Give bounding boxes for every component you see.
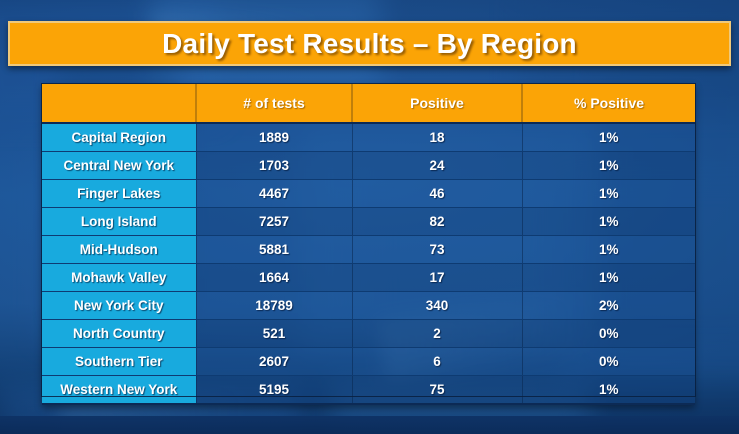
background-lower-band [0,416,739,434]
cell-pct-positive: 1% [522,264,695,292]
table-row: Central New York 1703 24 1% [42,152,695,180]
title-banner: Daily Test Results – By Region [8,21,731,66]
cell-region: Mid-Hudson [42,236,196,264]
table-row: New York City 18789 340 2% [42,292,695,320]
cell-tests: 1703 [196,152,352,180]
cell-positive: 82 [352,208,522,236]
table-row: Capital Region 1889 18 1% [42,123,695,152]
cell-tests: 18789 [196,292,352,320]
cell-positive: 6 [352,348,522,376]
column-header-region [42,84,196,123]
cell-positive: 2 [352,320,522,348]
cell-pct-positive: 1% [522,376,695,405]
cell-region: Southern Tier [42,348,196,376]
cell-region: Finger Lakes [42,180,196,208]
table-body: Capital Region 1889 18 1% Central New Yo… [42,123,695,404]
cell-positive: 73 [352,236,522,264]
cell-region: Capital Region [42,123,196,152]
cell-tests: 4467 [196,180,352,208]
cell-tests: 521 [196,320,352,348]
cell-tests: 5881 [196,236,352,264]
column-header-pct-positive: % Positive [522,84,695,123]
cell-region: New York City [42,292,196,320]
table-row: Mid-Hudson 5881 73 1% [42,236,695,264]
cell-region: North Country [42,320,196,348]
cell-pct-positive: 1% [522,180,695,208]
table-row: Western New York 5195 75 1% [42,376,695,405]
table-header: # of tests Positive % Positive [42,84,695,123]
cell-tests: 1664 [196,264,352,292]
cell-pct-positive: 2% [522,292,695,320]
cell-tests: 5195 [196,376,352,405]
table-row: Long Island 7257 82 1% [42,208,695,236]
cell-tests: 7257 [196,208,352,236]
table-row: Mohawk Valley 1664 17 1% [42,264,695,292]
cell-tests: 2607 [196,348,352,376]
cell-pct-positive: 1% [522,123,695,152]
column-header-tests: # of tests [196,84,352,123]
cell-pct-positive: 0% [522,320,695,348]
column-header-positive: Positive [352,84,522,123]
results-table: # of tests Positive % Positive Capital R… [42,84,695,405]
cell-pct-positive: 1% [522,152,695,180]
cell-region: Mohawk Valley [42,264,196,292]
broadcast-slide: Daily Test Results – By Region # of test… [0,0,739,434]
cell-pct-positive: 0% [522,348,695,376]
cell-positive: 17 [352,264,522,292]
cell-tests: 1889 [196,123,352,152]
table-row: Finger Lakes 4467 46 1% [42,180,695,208]
cell-positive: 340 [352,292,522,320]
page-title: Daily Test Results – By Region [162,28,577,60]
cell-region: Long Island [42,208,196,236]
cell-positive: 24 [352,152,522,180]
table-row: Southern Tier 2607 6 0% [42,348,695,376]
cell-positive: 18 [352,123,522,152]
cell-region: Central New York [42,152,196,180]
cell-pct-positive: 1% [522,236,695,264]
cell-positive: 75 [352,376,522,405]
cell-region: Western New York [42,376,196,405]
cell-pct-positive: 1% [522,208,695,236]
table-header-row: # of tests Positive % Positive [42,84,695,123]
table-row: North Country 521 2 0% [42,320,695,348]
cell-positive: 46 [352,180,522,208]
